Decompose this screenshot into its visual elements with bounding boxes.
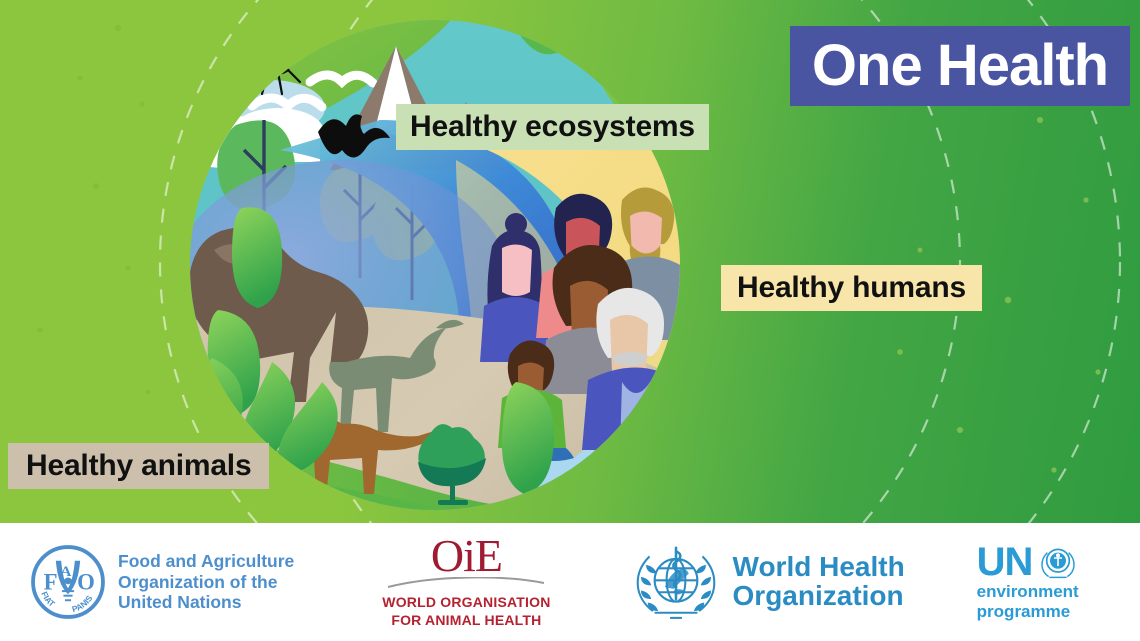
logo-fao: F O A FIAT PANIS Food and Agriculture <box>30 544 294 620</box>
un-wordmark: UN <box>977 544 1033 581</box>
oie-arc-icon <box>386 577 546 589</box>
who-emblem-icon <box>629 539 723 625</box>
svg-text:A: A <box>60 563 71 580</box>
oie-logo-block: OiE WORLD ORGANISATION FOR ANIMAL HEALTH <box>382 535 550 629</box>
page-title: One Health <box>812 37 1108 95</box>
unep-line-2: programme <box>977 602 1079 622</box>
fao-line-3: United Nations <box>118 592 294 613</box>
label-healthy-humans: Healthy humans <box>721 265 982 311</box>
un-emblem-icon <box>1038 542 1078 582</box>
fao-line-1: Food and Agriculture <box>118 551 294 572</box>
who-line-1: World Health <box>733 553 905 582</box>
oie-line-1: WORLD ORGANISATION <box>382 594 550 612</box>
label-healthy-ecosystems: Healthy ecosystems <box>396 104 709 150</box>
label-text: Healthy animals <box>26 449 251 483</box>
unep-logo-block: UN environment programme <box>977 542 1079 621</box>
title-band: One Health <box>790 26 1130 106</box>
partner-logo-bar: F O A FIAT PANIS Food and Agriculture <box>0 523 1140 641</box>
oie-wordmark: OiE <box>382 535 550 576</box>
label-text: Healthy humans <box>737 271 966 305</box>
svg-text:O: O <box>77 570 95 595</box>
logo-unep: UN environment programme <box>977 542 1079 621</box>
svg-text:F: F <box>44 570 58 595</box>
oie-line-2: FOR ANIMAL HEALTH <box>382 612 550 630</box>
fao-wordmark: Food and Agriculture Organization of the… <box>118 551 294 613</box>
label-text: Healthy ecosystems <box>410 110 695 144</box>
label-healthy-animals: Healthy animals <box>8 443 269 489</box>
svg-text:PANIS: PANIS <box>71 593 95 614</box>
who-line-2: Organization <box>733 582 905 611</box>
fao-line-2: Organization of the <box>118 572 294 593</box>
unep-line-1: environment <box>977 582 1079 602</box>
unep-top-row: UN <box>977 542 1079 582</box>
who-wordmark: World Health Organization <box>733 553 905 610</box>
logo-oie: OiE WORLD ORGANISATION FOR ANIMAL HEALTH <box>382 535 550 629</box>
fao-emblem-icon: F O A FIAT PANIS <box>30 544 106 620</box>
logo-who: World Health Organization <box>629 539 905 625</box>
one-health-infographic: Healthy ecosystems Healthy humans Health… <box>0 0 1140 641</box>
